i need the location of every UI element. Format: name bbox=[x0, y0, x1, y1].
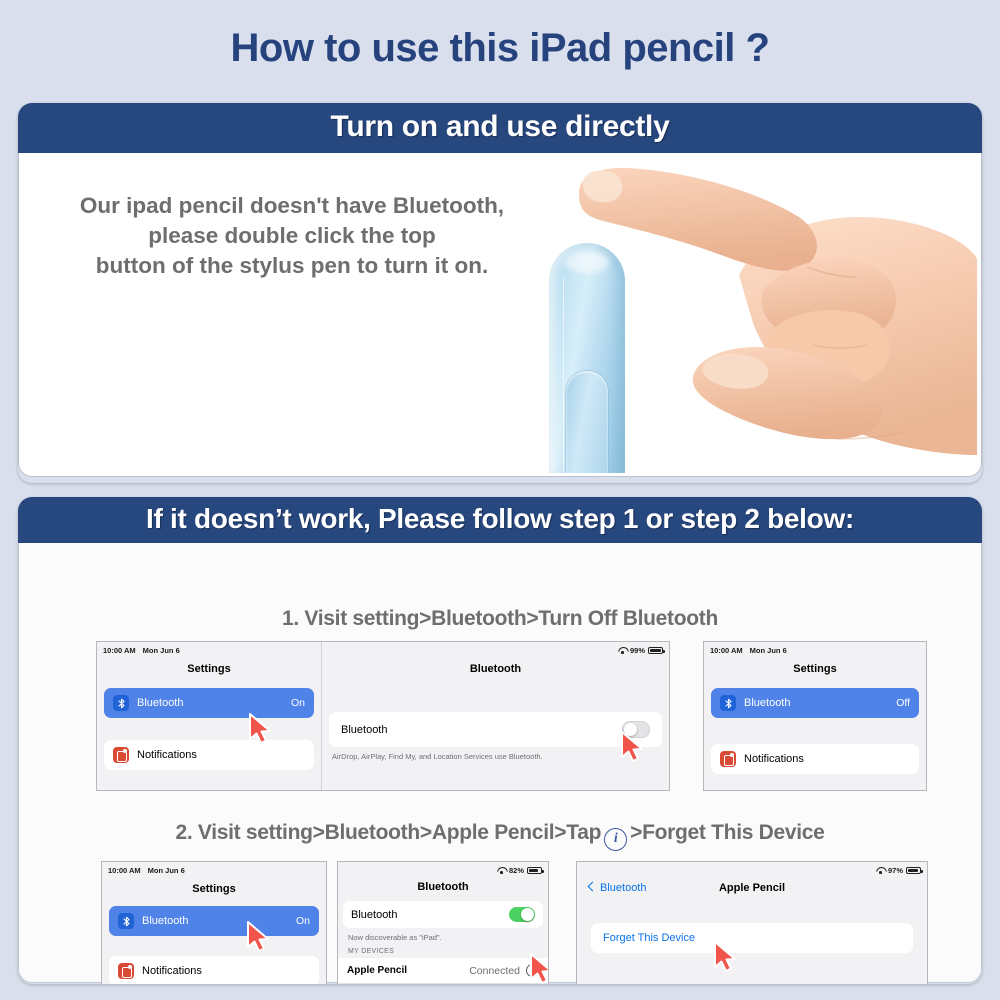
bluetooth-nav-title: Bluetooth bbox=[338, 879, 548, 901]
status-time: 10:00 AM bbox=[108, 866, 141, 875]
bluetooth-toggle-row[interactable]: Bluetooth bbox=[343, 901, 543, 928]
status-bar: 10:00 AM Mon Jun 6 bbox=[704, 642, 926, 659]
intro-line-1: Our ipad pencil doesn't have Bluetooth, bbox=[57, 191, 527, 221]
my-devices-label: MY DEVICES bbox=[338, 942, 548, 958]
settings-item-label: Notifications bbox=[744, 753, 804, 765]
screen-settings-bluetooth-off: 10:00 AM Mon Jun 6 Settings Bluetooth Of… bbox=[703, 641, 927, 791]
settings-item-bluetooth[interactable]: Bluetooth On bbox=[109, 906, 319, 936]
status-bar: 10:00 AM Mon Jun 6 bbox=[97, 642, 321, 659]
screen-bluetooth-devices: 82% Bluetooth Bluetooth Now discoverable… bbox=[337, 861, 549, 984]
intro-line-3: button of the stylus pen to turn it on. bbox=[57, 251, 527, 281]
battery-percent: 82% bbox=[509, 866, 524, 875]
bluetooth-row-label: Bluetooth bbox=[351, 909, 397, 921]
status-time: 10:00 AM bbox=[103, 646, 136, 655]
panel-one-header: Turn on and use directly bbox=[18, 103, 982, 153]
settings-item-notifications[interactable]: Notifications bbox=[711, 744, 919, 774]
device-row-apple-pencil[interactable]: Apple Pencil Connected i bbox=[338, 958, 548, 984]
forget-this-device-label: Forget This Device bbox=[603, 932, 695, 944]
settings-item-label: Bluetooth bbox=[142, 915, 188, 927]
panel-two-body: 1. Visit setting>Bluetooth>Turn Off Blue… bbox=[18, 543, 982, 983]
panel-one-body: Our ipad pencil doesn't have Bluetooth, … bbox=[18, 153, 982, 477]
screen-settings-bluetooth-on: 10:00 AM Mon Jun 6 Settings Bluetooth On… bbox=[101, 861, 327, 984]
battery-icon bbox=[648, 647, 663, 655]
wifi-icon bbox=[618, 647, 627, 654]
intro-text: Our ipad pencil doesn't have Bluetooth, … bbox=[57, 191, 527, 281]
battery-icon bbox=[906, 867, 921, 875]
apple-pencil-title: Apple Pencil bbox=[577, 882, 927, 894]
device-name: Apple Pencil bbox=[347, 965, 407, 976]
settings-item-notifications[interactable]: Notifications bbox=[109, 956, 319, 984]
notifications-icon bbox=[720, 751, 736, 767]
battery-percent: 97% bbox=[888, 866, 903, 875]
status-date: Mon Jun 6 bbox=[148, 866, 185, 875]
step-2-title-part-b: >Forget This Device bbox=[630, 821, 824, 844]
intro-line-2: please double click the top bbox=[57, 221, 527, 251]
battery-percent: 99% bbox=[630, 646, 645, 655]
discoverable-caption: Now discoverable as "iPad". bbox=[338, 928, 548, 942]
bluetooth-icon bbox=[113, 695, 129, 711]
bluetooth-toggle[interactable] bbox=[509, 907, 535, 922]
status-bar: 10:00 AM Mon Jun 6 bbox=[102, 862, 326, 879]
battery-icon bbox=[527, 867, 542, 875]
bluetooth-toggle[interactable] bbox=[622, 721, 650, 738]
forget-this-device-row[interactable]: Forget This Device bbox=[591, 923, 913, 953]
panel-troubleshoot: If it doesn’t work, Please follow step 1… bbox=[18, 497, 982, 984]
settings-item-bluetooth[interactable]: Bluetooth On bbox=[104, 688, 314, 718]
step-1-title: 1. Visit setting>Bluetooth>Turn Off Blue… bbox=[19, 607, 981, 631]
settings-title: Settings bbox=[102, 879, 326, 902]
notifications-icon bbox=[113, 747, 129, 763]
settings-item-label: Bluetooth bbox=[744, 697, 790, 709]
info-icon[interactable]: i bbox=[526, 964, 539, 977]
wifi-icon bbox=[497, 867, 506, 874]
screen-settings-bluetooth-detail: 10:00 AM Mon Jun 6 Settings Bluetooth On… bbox=[96, 641, 670, 791]
status-bar: 82% bbox=[338, 862, 548, 879]
settings-item-notifications[interactable]: Notifications bbox=[104, 740, 314, 770]
bluetooth-icon bbox=[720, 695, 736, 711]
wifi-icon bbox=[876, 867, 885, 874]
screen-apple-pencil-detail: 97% Bluetooth Apple Pencil Forget This D… bbox=[576, 861, 928, 984]
no-bluetooth-icon bbox=[261, 479, 367, 483]
bluetooth-icon bbox=[118, 913, 134, 929]
panel-two-header: If it doesn’t work, Please follow step 1… bbox=[18, 497, 982, 543]
settings-item-label: Bluetooth bbox=[137, 697, 183, 709]
settings-title: Settings bbox=[704, 659, 926, 682]
settings-column: 10:00 AM Mon Jun 6 Settings Bluetooth On… bbox=[97, 642, 322, 790]
stylus-and-hand-photo bbox=[507, 155, 977, 473]
status-bar: 99% bbox=[322, 642, 669, 659]
bluetooth-row-label: Bluetooth bbox=[341, 724, 387, 736]
panel-turn-on: Turn on and use directly Our ipad pencil… bbox=[18, 103, 982, 483]
step-2-title: 2. Visit setting>Bluetooth>Apple Pencil>… bbox=[19, 821, 981, 851]
bluetooth-caption: AirDrop, AirPlay, Find My, and Location … bbox=[322, 747, 669, 761]
bluetooth-state: Off bbox=[896, 697, 910, 709]
settings-item-bluetooth[interactable]: Bluetooth Off bbox=[711, 688, 919, 718]
settings-title: Settings bbox=[97, 659, 321, 682]
notifications-icon bbox=[118, 963, 134, 979]
settings-item-label: Notifications bbox=[137, 749, 197, 761]
settings-item-label: Notifications bbox=[142, 965, 202, 977]
bluetooth-toggle-row[interactable]: Bluetooth bbox=[329, 712, 662, 747]
info-icon: i bbox=[604, 828, 627, 851]
device-status: Connected bbox=[469, 965, 520, 977]
bluetooth-detail-column: 99% Bluetooth Bluetooth AirDrop, AirPlay… bbox=[322, 642, 669, 790]
hand-photo bbox=[507, 155, 977, 473]
status-date: Mon Jun 6 bbox=[143, 646, 180, 655]
bluetooth-state: On bbox=[291, 697, 305, 709]
status-bar: 97% bbox=[577, 862, 927, 879]
step-2-title-part-a: 2. Visit setting>Bluetooth>Apple Pencil>… bbox=[175, 821, 601, 844]
status-date: Mon Jun 6 bbox=[750, 646, 787, 655]
page-title: How to use this iPad pencil ? bbox=[0, 0, 1000, 70]
bluetooth-state: On bbox=[296, 915, 310, 927]
status-time: 10:00 AM bbox=[710, 646, 743, 655]
detail-title: Bluetooth bbox=[322, 659, 669, 682]
